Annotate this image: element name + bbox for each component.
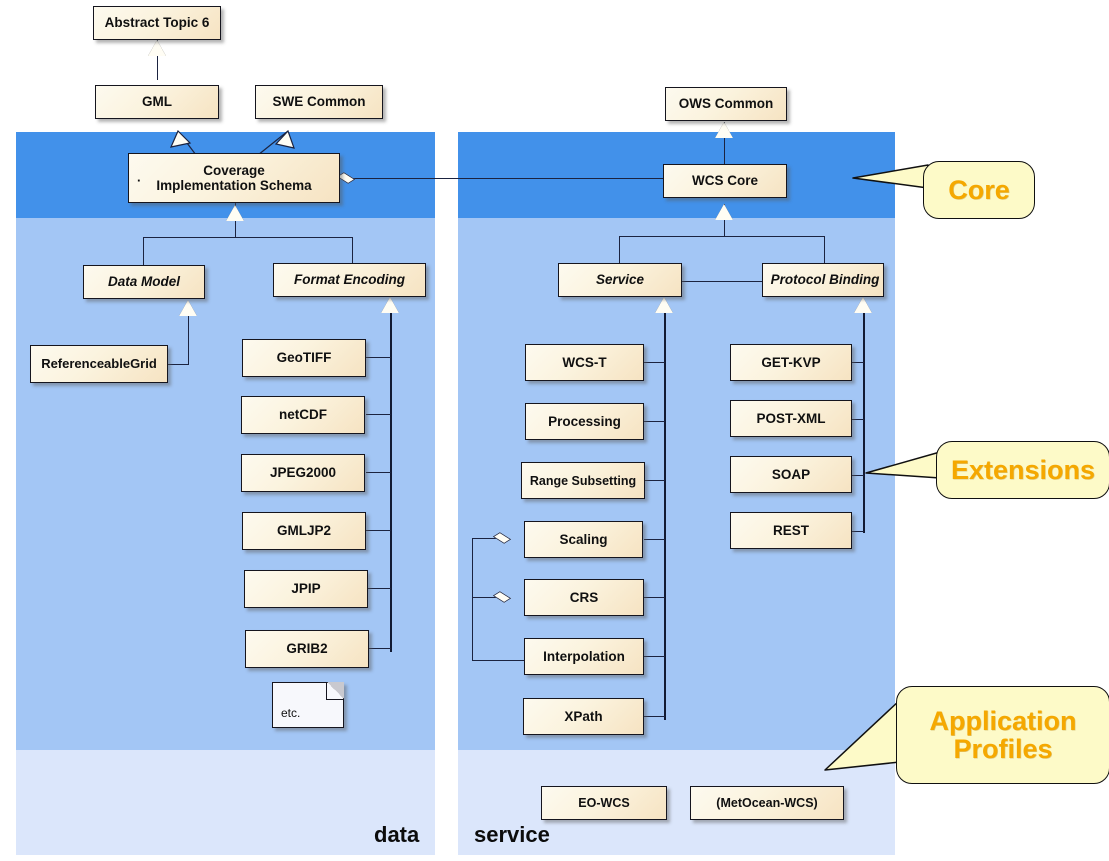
box-label: Format Encoding — [294, 272, 405, 287]
generalization-arrow-topic6 — [148, 40, 166, 56]
box-label: WCS-T — [562, 355, 606, 370]
box-label: Data Model — [108, 274, 180, 289]
connector-wcst — [644, 362, 665, 363]
box-label: GET-KVP — [761, 355, 820, 370]
box-grib2[interactable]: GRIB2 — [245, 630, 369, 668]
box-label: REST — [773, 523, 809, 538]
box-get-kvp[interactable]: GET-KVP — [730, 344, 852, 381]
box-jpip[interactable]: JPIP — [244, 570, 368, 608]
connector-netcdf — [366, 414, 391, 415]
box-xpath[interactable]: XPath — [523, 698, 644, 735]
box-label: SOAP — [772, 467, 810, 482]
connector-to-service — [619, 236, 620, 264]
connector-gmljp2 — [366, 530, 391, 531]
box-data-model[interactable]: Data Model — [83, 265, 205, 299]
box-prefix-dot: . — [137, 171, 141, 186]
connector-jpip — [366, 588, 391, 589]
connector-range-subsetting — [644, 480, 665, 481]
box-protocol-binding[interactable]: Protocol Binding — [762, 263, 884, 297]
callout-label-line2: Profiles — [953, 735, 1052, 763]
connector-refgrid-v — [188, 316, 189, 364]
box-range-subsetting[interactable]: Range Subsetting — [521, 462, 645, 499]
box-interpolation[interactable]: Interpolation — [524, 638, 644, 675]
generalization-arrow-owscommon — [715, 122, 733, 138]
callout-label-line1: Application — [930, 707, 1077, 735]
box-wcs-core[interactable]: WCS Core — [663, 164, 787, 198]
box-label: (MetOcean-WCS) — [716, 796, 817, 810]
callout-application-profiles: Application Profiles — [896, 686, 1109, 784]
box-label: POST-XML — [756, 411, 825, 426]
box-label: ReferenceableGrid — [41, 357, 157, 372]
connector-getkvp — [851, 362, 864, 363]
box-label-line2: Implementation Schema — [156, 178, 311, 193]
box-gml[interactable]: GML — [95, 85, 219, 119]
box-soap[interactable]: SOAP — [730, 456, 852, 493]
box-label: GRIB2 — [286, 641, 327, 656]
caption-service: service — [474, 822, 550, 848]
generalization-arrow-protocol-binding — [854, 297, 872, 313]
connector-geotiff — [366, 357, 391, 358]
box-label: WCS Core — [692, 173, 758, 188]
box-label: GeoTIFF — [277, 350, 332, 365]
generalization-arrow-cis — [226, 205, 244, 221]
band-profiles-data — [16, 750, 435, 855]
diagram-canvas: Abstract Topic 6 GML SWE Common . Covera… — [0, 0, 1109, 861]
box-label: CRS — [570, 590, 599, 605]
connector-aggregation-scaling — [472, 538, 496, 539]
connector-aggregation-interpolation — [472, 660, 524, 661]
connector-aggregation-crs — [472, 597, 496, 598]
connector-cis-to-wcscore — [352, 178, 664, 179]
box-crs[interactable]: CRS — [524, 579, 644, 616]
box-label: Service — [596, 272, 644, 287]
box-abstract-topic-6[interactable]: Abstract Topic 6 — [93, 6, 221, 40]
band-extensions-data — [16, 218, 435, 750]
connector-service-trunk — [664, 313, 666, 720]
connector-interpolation — [644, 656, 665, 657]
box-label: netCDF — [279, 407, 327, 422]
box-post-xml[interactable]: POST-XML — [730, 400, 852, 437]
box-jpeg2000[interactable]: JPEG2000 — [241, 454, 365, 492]
connector-cis-bus — [143, 237, 353, 238]
connector-soap — [851, 475, 864, 476]
generalization-arrow-service — [655, 297, 673, 313]
connector-grib2 — [366, 648, 391, 649]
generalization-arrow-format-encoding — [381, 297, 399, 313]
note-etc[interactable]: etc. — [272, 682, 344, 728]
box-label: XPath — [564, 709, 602, 724]
box-label: Coverage Implementation Schema — [156, 163, 311, 193]
box-label: GML — [142, 94, 172, 109]
connector-processing — [644, 421, 665, 422]
connector-to-data-model — [143, 237, 144, 265]
box-swe-common[interactable]: SWE Common — [255, 85, 383, 119]
box-coverage-implementation-schema[interactable]: . Coverage Implementation Schema — [128, 153, 340, 203]
connector-postxml — [851, 419, 864, 420]
note-label: etc. — [281, 706, 300, 720]
box-label: JPEG2000 — [270, 465, 336, 480]
box-geotiff[interactable]: GeoTIFF — [242, 339, 366, 377]
connector-xpath — [644, 716, 665, 717]
box-label: Interpolation — [543, 649, 625, 664]
box-scaling[interactable]: Scaling — [524, 521, 643, 558]
connector-crs — [644, 597, 665, 598]
connector-rest — [851, 531, 864, 532]
aggregation-diamond-crs — [494, 592, 510, 602]
connector-refgrid-h — [166, 364, 189, 365]
connector-wcscore-bus — [619, 236, 825, 237]
aggregation-diamond-scaling — [494, 533, 510, 543]
caption-data: data — [374, 822, 419, 848]
connector-to-format-encoding — [352, 237, 353, 265]
aggregation-diamond-cis — [338, 173, 354, 183]
callout-extensions: Extensions — [936, 441, 1109, 499]
connector-service-protocol — [682, 281, 762, 282]
callout-core: Core — [923, 161, 1035, 219]
note-fold-corner — [326, 682, 344, 700]
box-label-line1: Coverage — [203, 163, 265, 178]
box-label: Abstract Topic 6 — [105, 15, 210, 30]
connector-format-trunk — [390, 313, 392, 652]
box-label: GMLJP2 — [277, 523, 331, 538]
box-netcdf[interactable]: netCDF — [241, 396, 365, 434]
box-label: Range Subsetting — [530, 474, 636, 488]
callout-label: Core — [948, 176, 1010, 204]
box-referenceable-grid[interactable]: ReferenceableGrid — [30, 345, 168, 383]
box-format-encoding[interactable]: Format Encoding — [273, 263, 426, 297]
box-service[interactable]: Service — [558, 263, 682, 297]
box-label: OWS Common — [679, 96, 774, 111]
box-label: EO-WCS — [578, 796, 629, 810]
box-label: SWE Common — [273, 94, 366, 109]
box-ows-common[interactable]: OWS Common — [665, 87, 787, 121]
connector-protocol-trunk — [863, 313, 865, 533]
box-label: JPIP — [291, 581, 320, 596]
connector-to-protocol-binding — [824, 236, 825, 264]
box-processing[interactable]: Processing — [525, 403, 644, 440]
box-label: Scaling — [559, 532, 607, 547]
callout-label: Extensions — [951, 456, 1095, 484]
box-wcs-t[interactable]: WCS-T — [525, 344, 644, 381]
box-rest[interactable]: REST — [730, 512, 852, 549]
box-label: Processing — [548, 414, 621, 429]
box-eo-wcs[interactable]: EO-WCS — [541, 786, 667, 820]
box-gmljp2[interactable]: GMLJP2 — [242, 512, 366, 550]
box-label: Protocol Binding — [771, 272, 880, 287]
connector-jpeg2000 — [366, 472, 391, 473]
connector-aggregation-bracket — [472, 538, 473, 661]
box-metocean-wcs[interactable]: (MetOcean-WCS) — [690, 786, 844, 820]
generalization-arrow-data-model — [179, 300, 197, 316]
connector-scaling — [644, 539, 665, 540]
generalization-arrow-wcscore — [715, 204, 733, 220]
